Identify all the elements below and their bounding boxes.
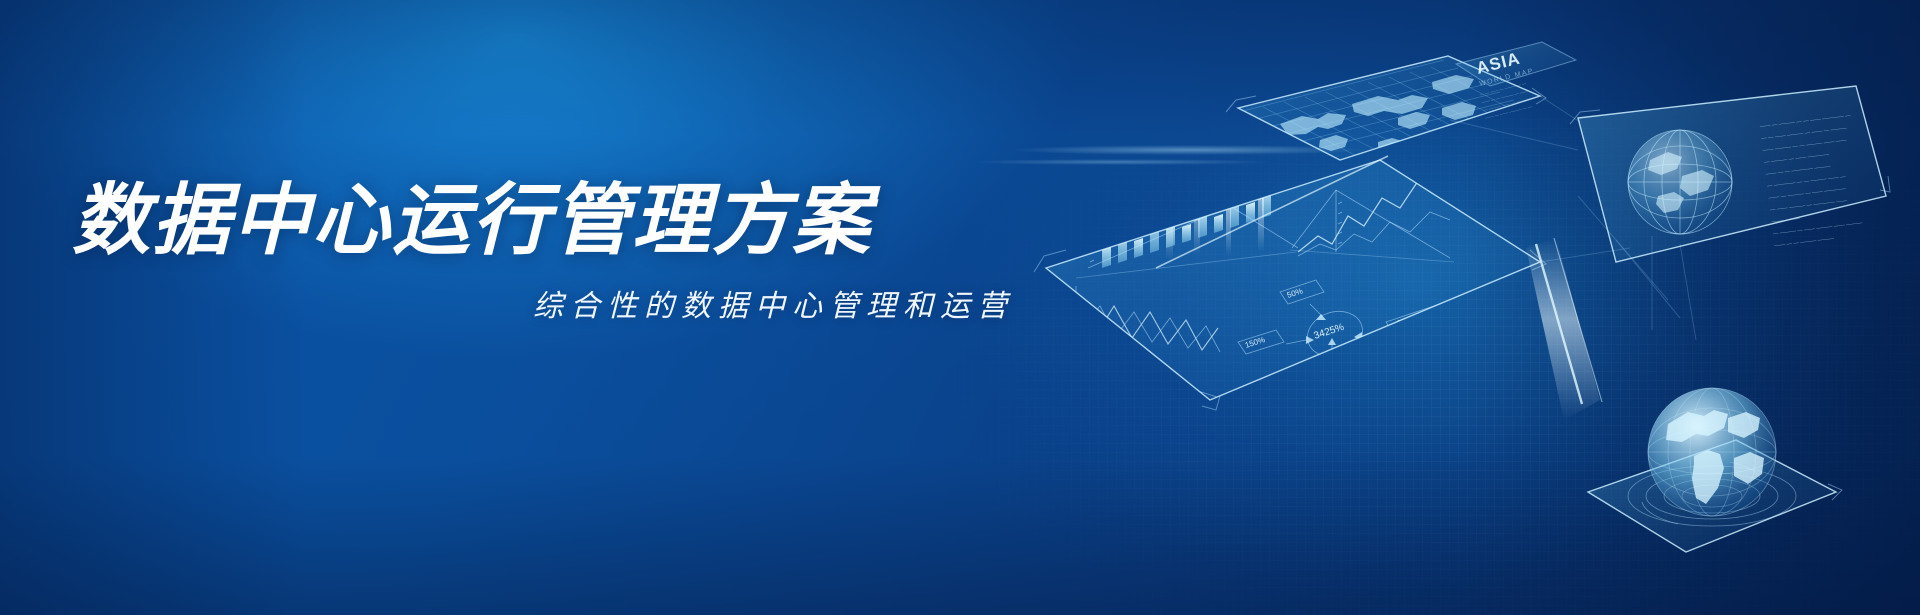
banner-subheadline: 综合性的数据中心管理和运营: [72, 281, 1032, 325]
banner-headline: 数据中心运行管理方案: [72, 180, 1032, 261]
hero-banner: 数据中心运行管理方案 综合性的数据中心管理和运营: [0, 0, 1920, 615]
banner-text-block: 数据中心运行管理方案 综合性的数据中心管理和运营: [72, 180, 1032, 325]
